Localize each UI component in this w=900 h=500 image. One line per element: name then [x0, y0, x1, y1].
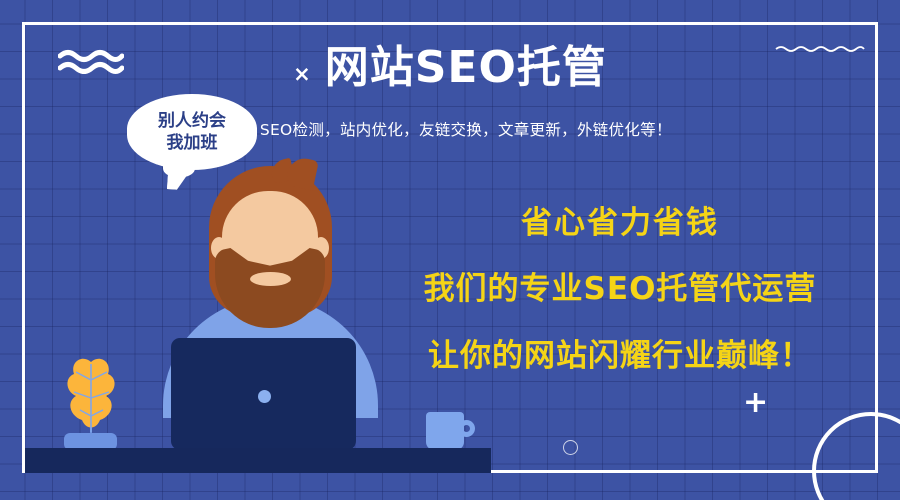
person-mouth [250, 272, 291, 286]
main-title-text: 网站SEO托管 [325, 44, 607, 92]
speech-bubble-line-1: 别人约会 [158, 110, 226, 132]
speech-bubble: 别人约会 我加班 [127, 94, 257, 170]
potted-plant-icon [60, 350, 122, 440]
pitch-line-3: 让你的网站闪耀行业巅峰！ [340, 330, 900, 375]
laptop-logo-dot-icon [258, 390, 271, 403]
small-circle-outline-icon [563, 440, 578, 455]
bullet-x-icon: × [293, 64, 311, 85]
pitch-line-2: 我们的专业SEO托管代运营 [340, 263, 900, 308]
speech-bubble-line-2: 我加班 [167, 132, 218, 154]
desk-surface [25, 448, 491, 473]
page-title: × 网站SEO托管 [0, 44, 900, 92]
pitch-line-1: 省心省力省钱 [340, 197, 900, 242]
coffee-mug-icon [426, 412, 464, 450]
seo-promo-poster: × 网站SEO托管 含：SEO检测，站内优化，友链交换，文章更新，外链优化等！ … [0, 0, 900, 500]
plus-icon: + [743, 388, 768, 418]
